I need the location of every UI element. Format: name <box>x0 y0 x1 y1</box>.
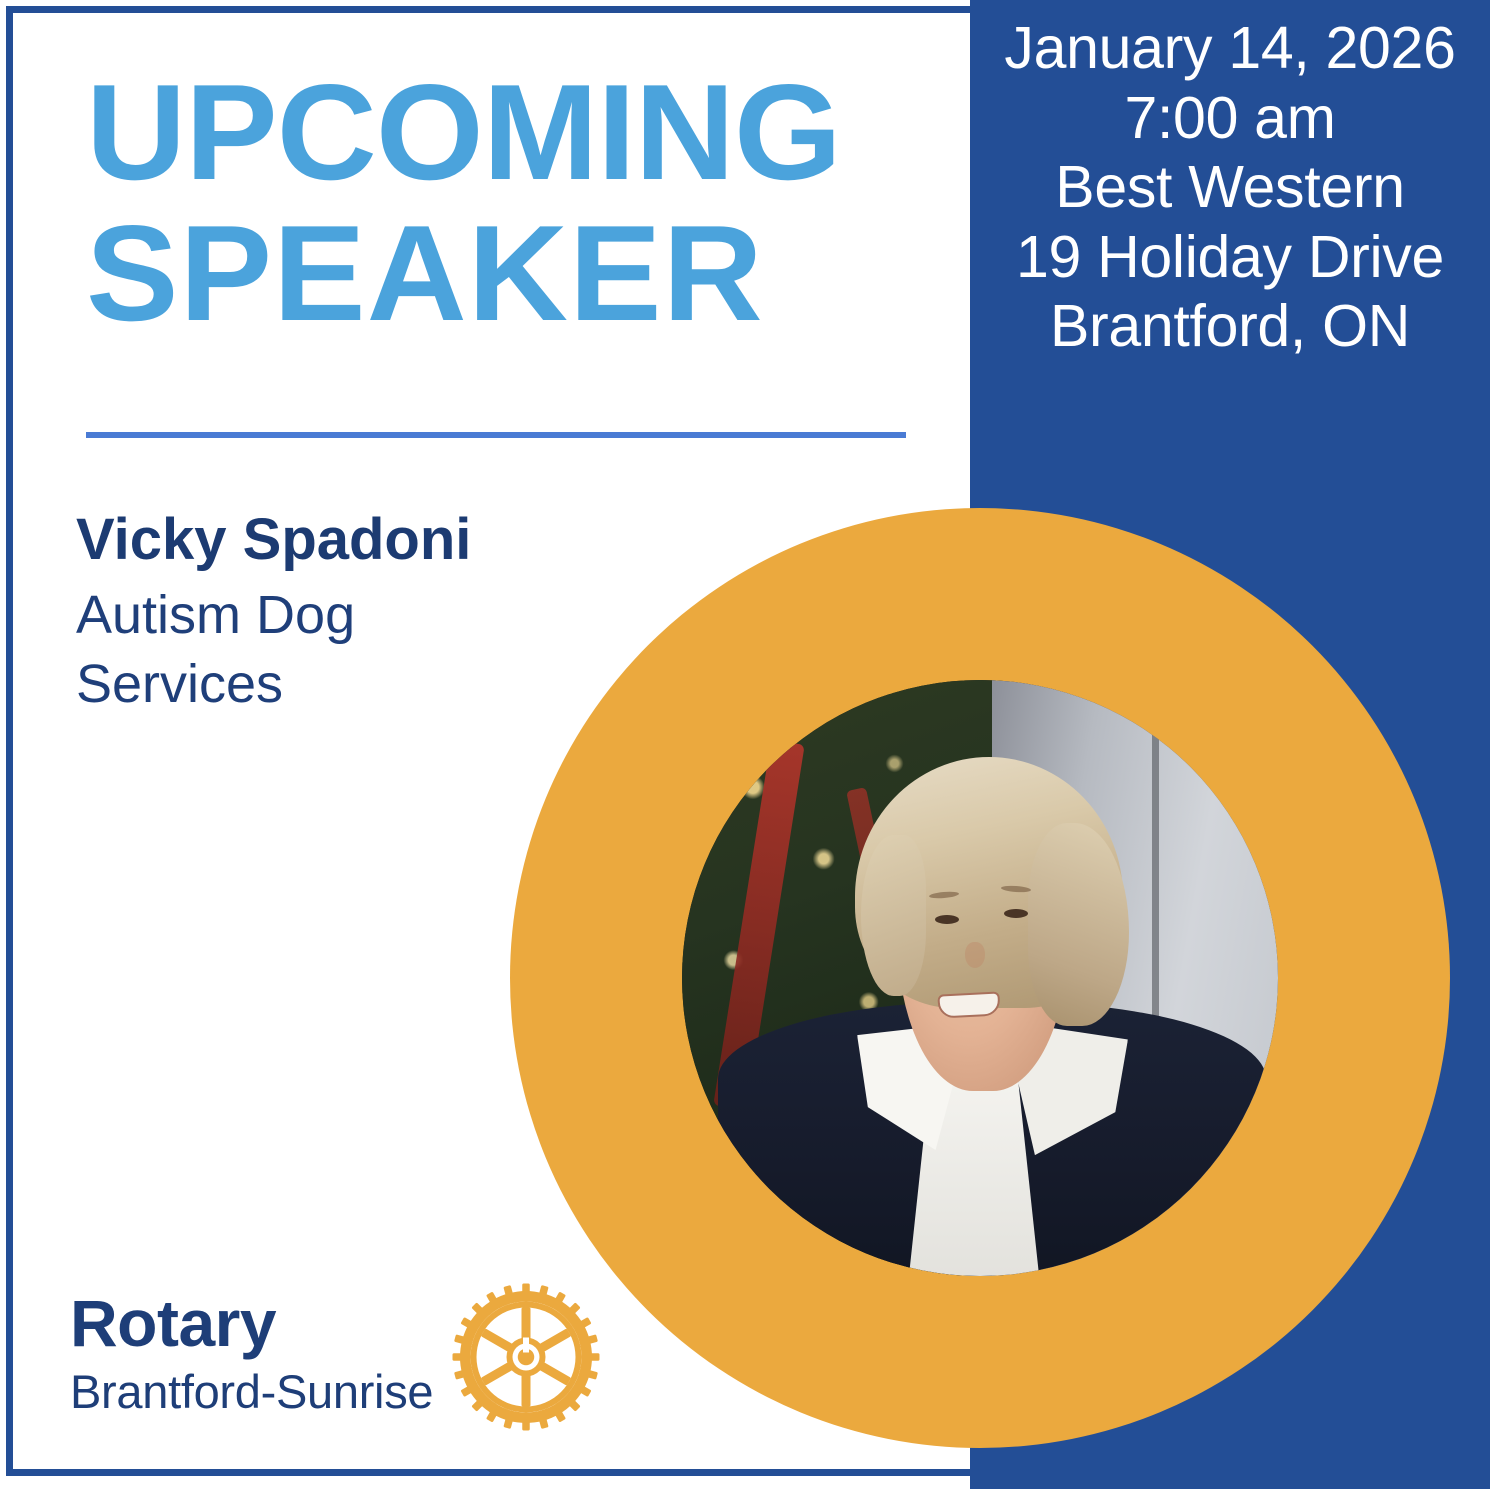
rotary-wheel-icon <box>451 1282 601 1437</box>
rotary-club-name: Brantford-Sunrise <box>70 1366 433 1419</box>
event-details: January 14, 2026 7:00 am Best Western 19… <box>970 14 1490 362</box>
event-city: Brantford, ON <box>970 292 1490 362</box>
rotary-logo: Rotary Brantford-Sunrise <box>70 1290 601 1437</box>
page-title: UPCOMING SPEAKER <box>86 62 926 345</box>
headline-line-upcoming: UPCOMING <box>86 62 943 203</box>
speaker-name: Vicky Spadoni <box>76 508 546 573</box>
event-time: 7:00 am <box>970 84 1490 154</box>
event-venue: Best Western <box>970 153 1490 223</box>
hair-left-side <box>861 835 927 996</box>
headline-line-speaker: SPEAKER <box>86 203 943 344</box>
headline-divider <box>86 432 906 438</box>
rotary-wordmark-block: Rotary Brantford-Sunrise <box>70 1290 433 1419</box>
upcoming-speaker-poster: January 14, 2026 7:00 am Best Western 19… <box>0 0 1490 1489</box>
event-street: 19 Holiday Drive <box>970 223 1490 293</box>
speaker-block: Vicky Spadoni Autism Dog Services <box>76 508 546 719</box>
speaker-organization: Autism Dog Services <box>76 581 426 719</box>
speaker-portrait <box>682 680 1278 1276</box>
rotary-wordmark: Rotary <box>70 1290 433 1356</box>
event-date: January 14, 2026 <box>970 14 1490 84</box>
